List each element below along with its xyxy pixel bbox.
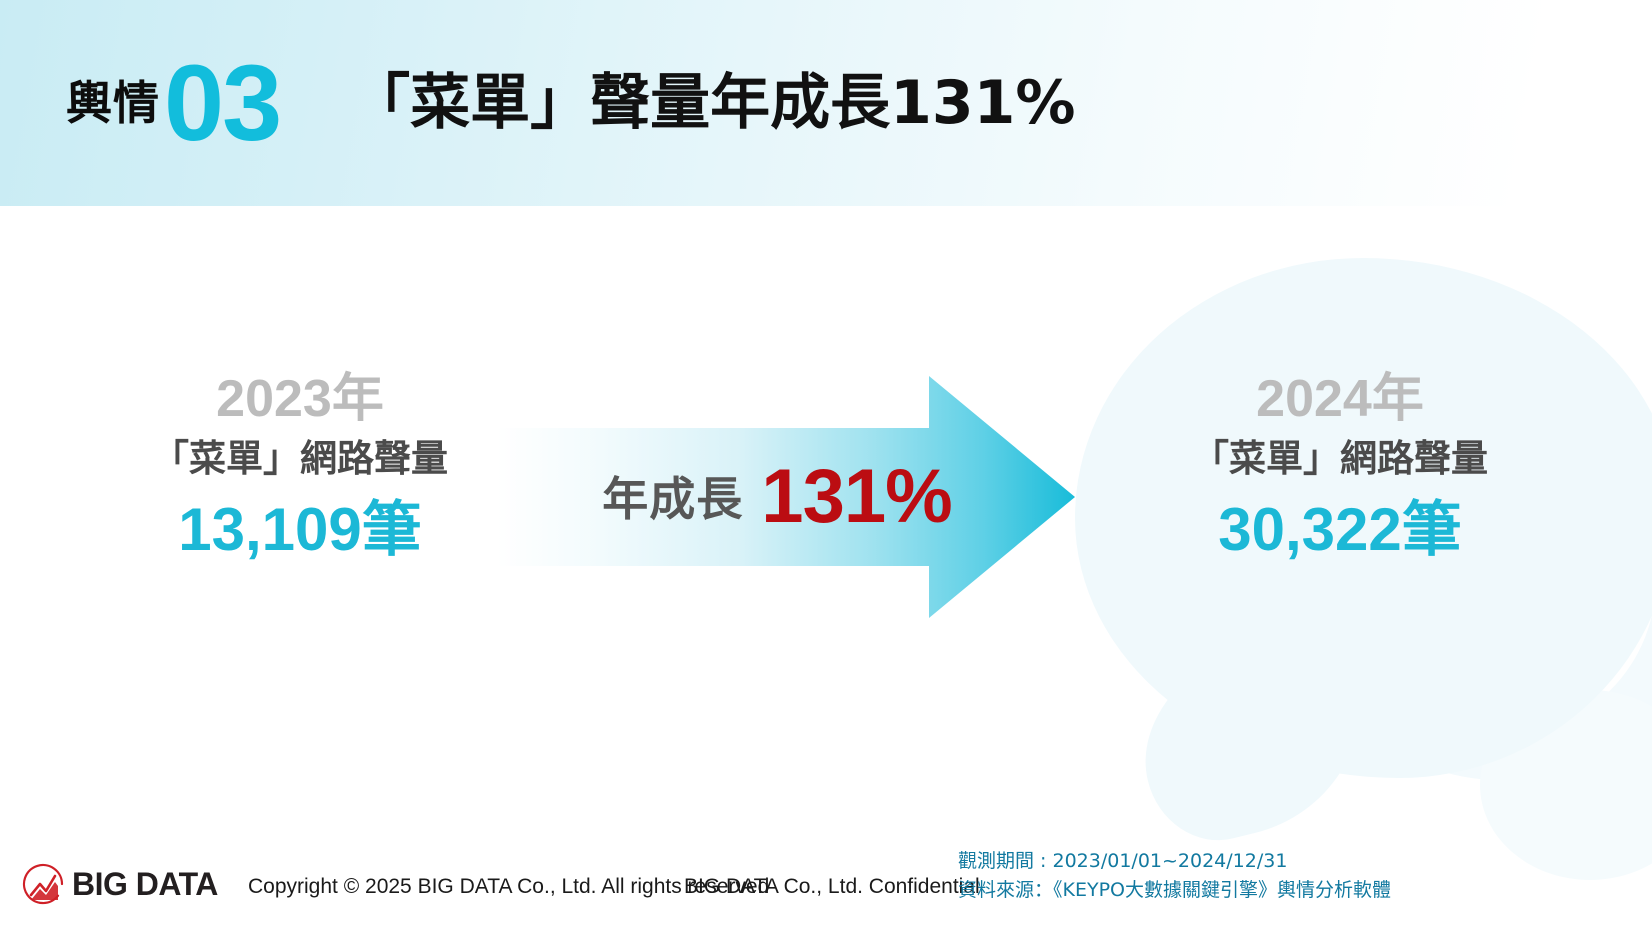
growth-percent-value: 131% (761, 453, 951, 540)
stat-year-label: 2023年 (65, 371, 535, 428)
comparison-area: 2023年 「菜單」網路聲量 13,109筆 (0, 206, 1652, 786)
source-note: 觀測期間 : 2023/01/01~2024/12/31 資料來源：《KEYPO… (958, 847, 1391, 904)
section-number: 03 (164, 49, 280, 157)
stat-block-2024: 2024年 「菜單」網路聲量 30,322筆 (1105, 371, 1575, 566)
confidential-text: BIG DATA Co., Ltd. Confidential (684, 875, 980, 899)
header-band: 輿情 03 「菜單」聲量年成長131% (0, 0, 1652, 206)
section-kicker: 輿情 (66, 80, 160, 126)
growth-label: 年成長 (602, 463, 743, 529)
footer: BIG DATA Copyright © 2025 BIG DATA Co., … (0, 808, 1652, 928)
stat-value: 30,322筆 (1105, 494, 1575, 566)
stat-metric-label: 「菜單」網路聲量 (1105, 434, 1575, 484)
slide-root: 輿情 03 「菜單」聲量年成長131% 2023年 「菜單」網路聲量 13,10… (0, 0, 1652, 928)
growth-arrow-text: 年成長 131% (497, 446, 1057, 546)
stat-block-2023: 2023年 「菜單」網路聲量 13,109筆 (65, 371, 535, 566)
data-source: 資料來源：《KEYPO大數據關鍵引擎》輿情分析軟體 (958, 876, 1391, 905)
stat-value: 13,109筆 (65, 494, 535, 566)
page-title: 「菜單」聲量年成長131% (350, 73, 1075, 133)
brand-logo: BIG DATA (22, 862, 218, 906)
logo-wordmark: BIG DATA (72, 866, 218, 903)
big-data-logo-icon (22, 862, 66, 906)
stat-metric-label: 「菜單」網路聲量 (65, 434, 535, 484)
observation-period: 觀測期間 : 2023/01/01~2024/12/31 (958, 847, 1391, 876)
stat-year-label: 2024年 (1105, 371, 1575, 428)
